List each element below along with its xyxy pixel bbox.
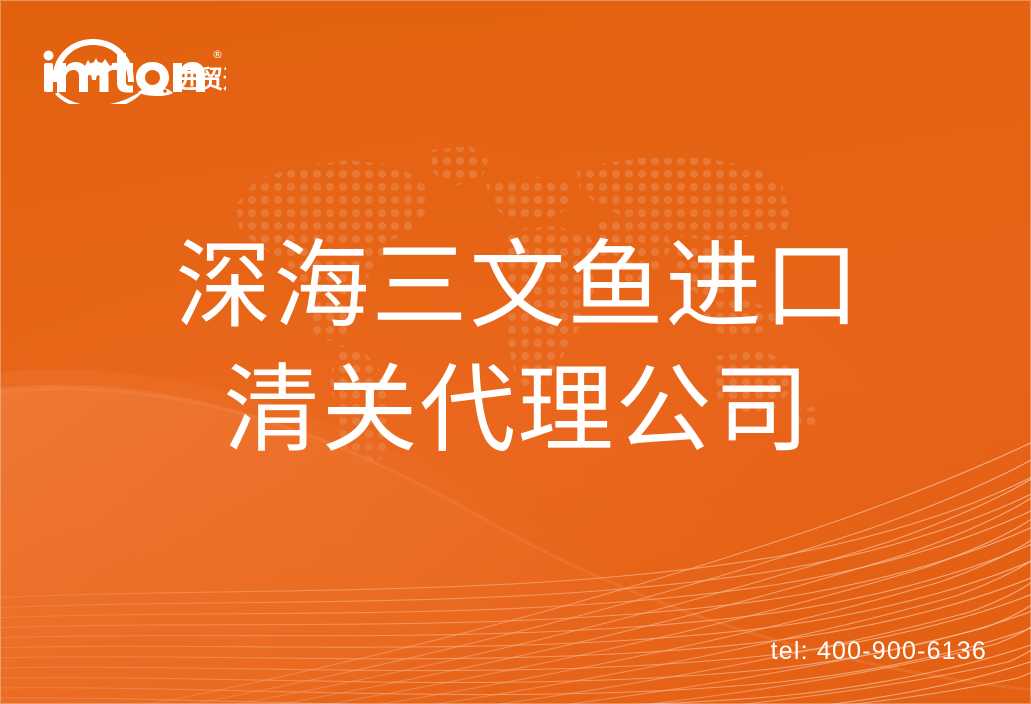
headline-block: 深海三文鱼进口 清关代理公司 xyxy=(0,225,1031,473)
globe-bird-swoosh-logo: 进贸通 ® xyxy=(36,26,226,104)
promo-banner: 进贸通 ® 深海三文鱼进口 清关代理公司 tel: 400-900-6136 xyxy=(0,0,1031,704)
contact-phone[interactable]: tel: 400-900-6136 xyxy=(771,637,987,666)
brand-logo[interactable]: 进贸通 ® xyxy=(36,26,226,104)
headline-line-2: 清关代理公司 xyxy=(4,349,1031,473)
headline-line-1: 深海三文鱼进口 xyxy=(6,225,1031,349)
logo-cn-name: 进贸通 xyxy=(173,65,226,94)
registered-mark-icon: ® xyxy=(212,48,223,61)
